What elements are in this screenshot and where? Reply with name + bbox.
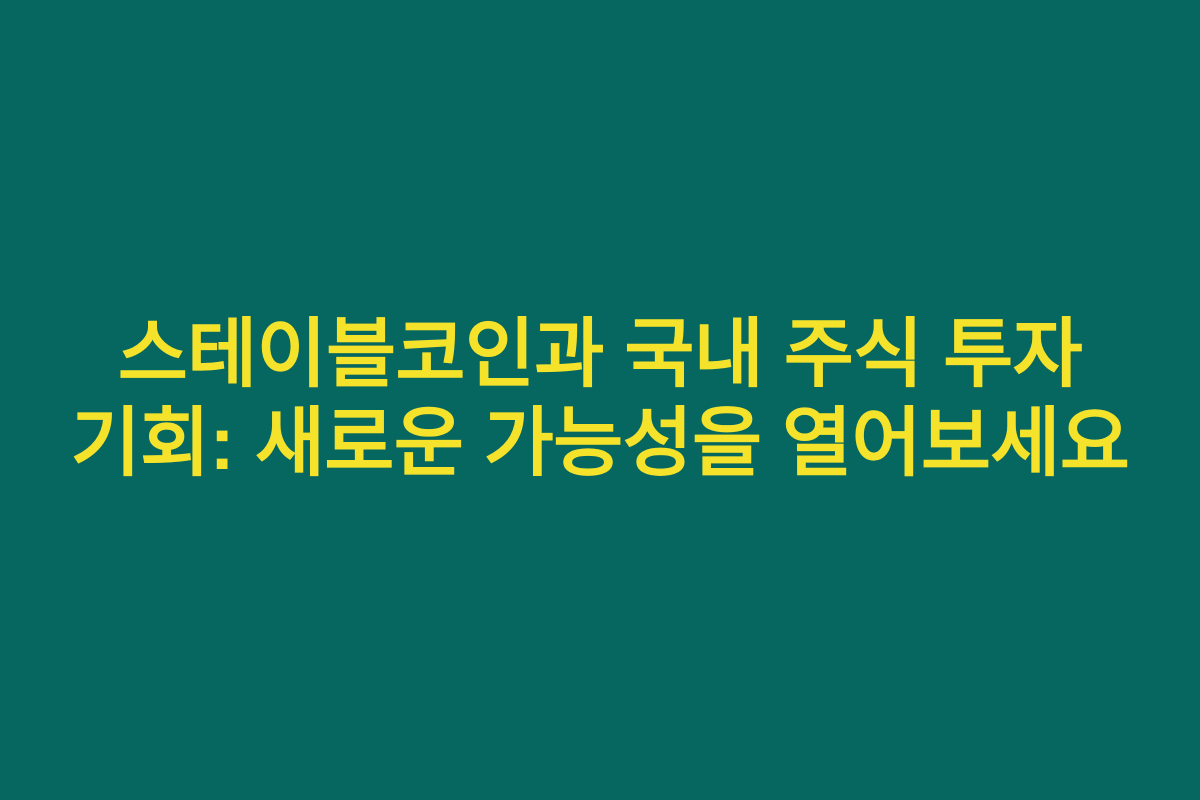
title-card-canvas: 스테이블코인과 국내 주식 투자 기회: 새로운 가능성을 열어보세요 bbox=[0, 0, 1200, 800]
page-title: 스테이블코인과 국내 주식 투자 기회: 새로운 가능성을 열어보세요 bbox=[40, 311, 1160, 489]
page-title-line-2: 기회: 새로운 가능성을 열어보세요 bbox=[40, 400, 1160, 489]
page-title-line-1: 스테이블코인과 국내 주식 투자 bbox=[40, 311, 1160, 400]
